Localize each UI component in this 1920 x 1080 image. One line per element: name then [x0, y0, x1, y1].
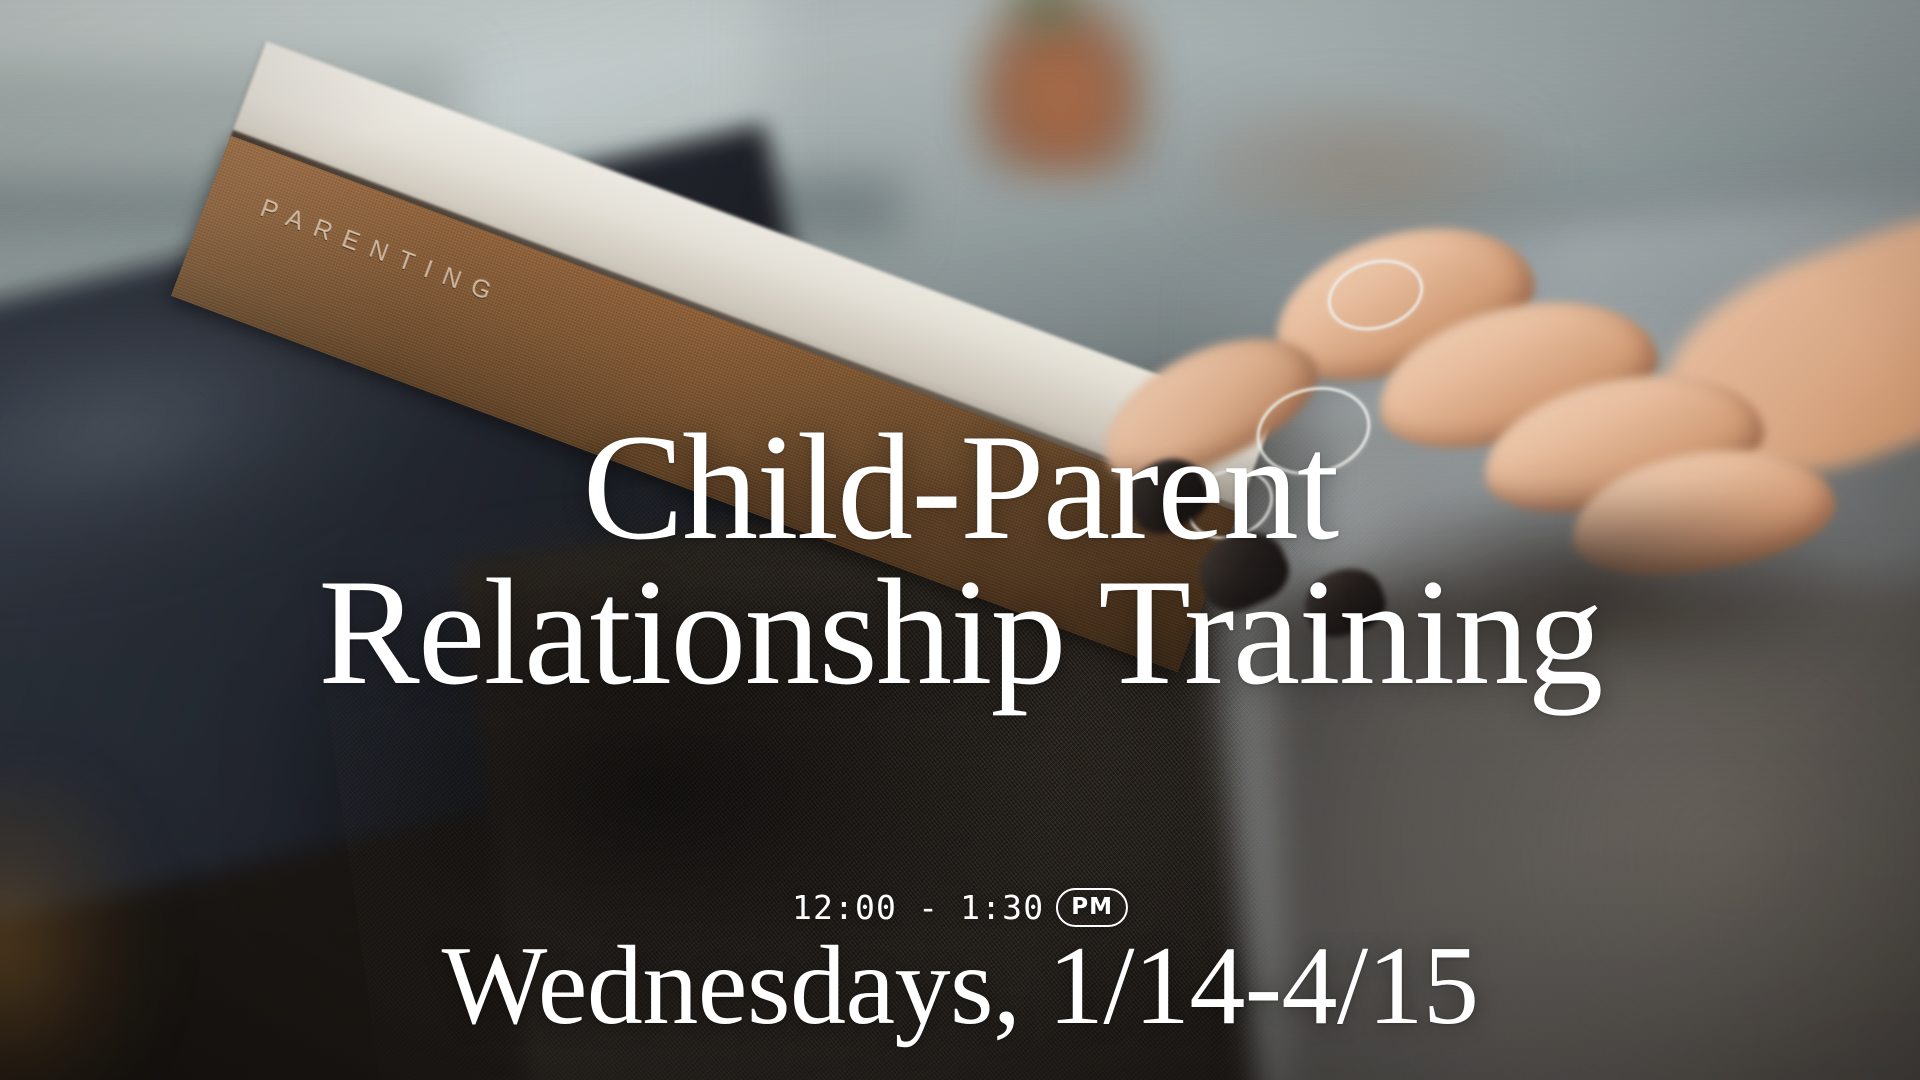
event-time-range: 12:00 - 1:30: [792, 888, 1044, 927]
event-title-line-2: Relationship Training: [50, 560, 1870, 705]
text-overlay: Child-Parent Relationship Training 12:00…: [0, 0, 1920, 1080]
event-title-line-1: Child-Parent: [50, 415, 1870, 560]
event-dates: Wednesdays, 1/14-4/15: [110, 930, 1810, 1042]
event-title: Child-Parent Relationship Training: [50, 415, 1870, 705]
flyer-canvas: PARENTING Child-Parent Relationshi: [0, 0, 1920, 1080]
meridiem-badge: PM: [1056, 888, 1128, 927]
event-time-row: 12:00 - 1:30 PM: [792, 888, 1128, 927]
